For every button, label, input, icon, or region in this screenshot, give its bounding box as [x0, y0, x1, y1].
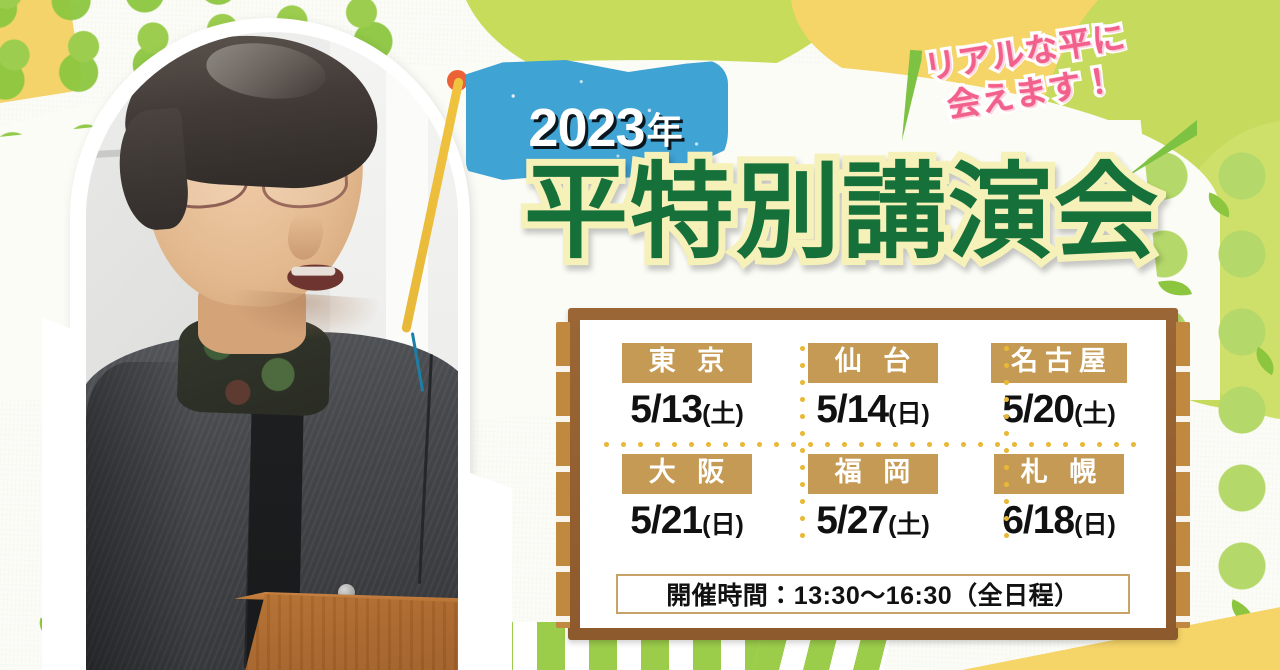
city-badge: 仙 台	[808, 343, 938, 382]
city-badge: 東 京	[622, 343, 752, 382]
session-cell-osaka[interactable]: 大 阪 5/21(日)	[594, 443, 780, 554]
mouth	[287, 265, 343, 291]
day-of-week: (日)	[1074, 511, 1116, 539]
wooden-podium	[234, 594, 458, 670]
date-value: 5/20	[1002, 388, 1074, 431]
frame-notch-right	[1176, 322, 1190, 628]
city-badge: 福 岡	[808, 454, 938, 493]
session-cell-sendai[interactable]: 仙 台 5/14(日)	[780, 332, 966, 443]
city-badge: 札 幌	[994, 454, 1124, 493]
dotted-separator-horizontal	[598, 442, 1148, 447]
day-of-week: (土)	[888, 511, 930, 539]
frame-notch-left	[556, 322, 570, 628]
session-cell-tokyo[interactable]: 東 京 5/13(土)	[594, 332, 780, 443]
date-value: 5/21	[630, 499, 702, 542]
year-number: 2023	[528, 97, 644, 159]
session-cell-nagoya[interactable]: 名古屋 5/20(土)	[966, 332, 1152, 443]
session-date: 5/27(土)	[816, 499, 930, 543]
city-badge: 名古屋	[991, 343, 1127, 382]
poster-banner: 2023年 リアルな平に 会えます！ 平特別講演会 東 京 5/13(土) 仙 …	[0, 0, 1280, 670]
day-of-week: (日)	[702, 511, 744, 539]
schedule-inner-panel: 東 京 5/13(土) 仙 台 5/14(日) 名古屋 5/20(土)	[580, 320, 1166, 628]
date-value: 6/18	[1002, 499, 1074, 542]
jacket-shading	[86, 362, 196, 670]
session-cell-fukuoka[interactable]: 福 岡 5/27(土)	[780, 443, 966, 554]
day-of-week: (土)	[1074, 400, 1116, 428]
session-date: 5/14(日)	[816, 388, 930, 432]
date-value: 5/13	[630, 388, 702, 431]
date-value: 5/27	[816, 499, 888, 542]
teeth	[291, 267, 335, 276]
session-date: 5/21(日)	[630, 499, 744, 543]
session-date: 5/20(土)	[1002, 388, 1116, 432]
date-value: 5/14	[816, 388, 888, 431]
schedule-grid: 東 京 5/13(土) 仙 台 5/14(日) 名古屋 5/20(土)	[594, 332, 1152, 554]
event-time-note: 開催時間：13:30〜16:30（全日程）	[616, 574, 1130, 614]
day-of-week: (日)	[888, 400, 930, 428]
schedule-panel: 東 京 5/13(土) 仙 台 5/14(日) 名古屋 5/20(土)	[568, 308, 1178, 640]
speaker-photo-cutout	[0, 18, 542, 670]
session-date: 5/13(土)	[630, 388, 744, 432]
session-cell-sapporo[interactable]: 札 幌 6/18(日)	[966, 443, 1152, 554]
page-title: 平特別講演会	[524, 156, 1224, 286]
city-badge: 大 阪	[622, 454, 752, 493]
nose	[285, 211, 326, 262]
year-unit: 年	[647, 102, 682, 154]
day-of-week: (土)	[702, 400, 744, 428]
speaker-photo	[86, 32, 458, 670]
session-date: 6/18(日)	[1002, 499, 1116, 543]
